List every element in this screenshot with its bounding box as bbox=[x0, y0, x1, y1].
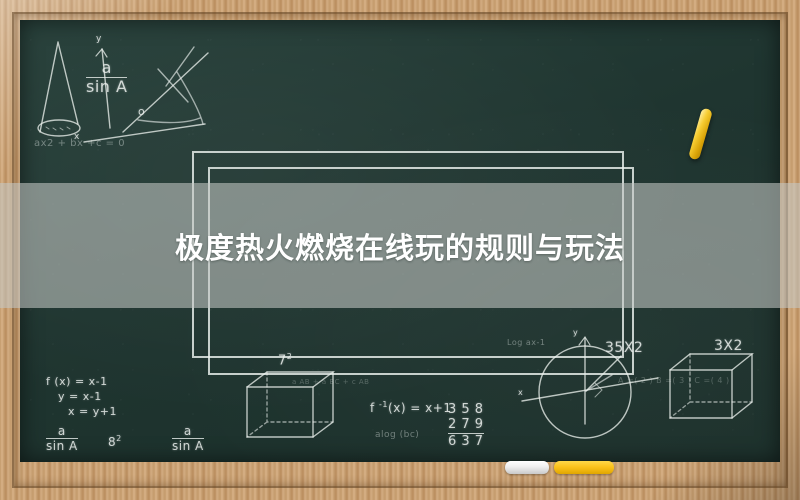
chalk-fraction-a-over-sina-bottom-center: a sin A bbox=[172, 425, 204, 452]
chalk-power-eight: 82 bbox=[108, 434, 122, 449]
chalk-axis-label-y-top: y bbox=[96, 34, 102, 44]
chalk-fraction-numerator: a bbox=[86, 60, 127, 77]
chalk-inverse-fn-rest: (x) = x+1 bbox=[388, 401, 451, 415]
chalk-angle-label-top: o bbox=[138, 105, 145, 118]
chalk-digit-row-2: 2 7 9 bbox=[448, 417, 484, 433]
chalk-inverse-function: f -1(x) = x+1 bbox=[370, 400, 451, 415]
chalk-axis-label-x-top: x bbox=[74, 132, 80, 142]
chalk-log-expression: alog (bc) bbox=[375, 430, 419, 440]
chalk-fraction-denominator: sin A bbox=[172, 438, 204, 453]
chalk-fraction-denominator: sin A bbox=[86, 77, 127, 96]
chalk-inverse-fn-symbol: f bbox=[370, 401, 379, 415]
chalk-digit-grid: 3 5 8 2 7 9 6 3 7 bbox=[448, 402, 484, 449]
chalk-matrix-label-b: 3X2 bbox=[714, 338, 743, 354]
chalk-power-exponent: 2 bbox=[116, 434, 122, 443]
chalk-fraction-a-over-sina-bottom-left: a sin A bbox=[46, 425, 78, 452]
yellow-chalk-stick-on-board bbox=[688, 107, 713, 160]
chalk-fraction-denominator: sin A bbox=[46, 438, 78, 453]
chalk-digit-row-1: 3 5 8 bbox=[448, 402, 484, 417]
chalk-fraction-numerator: a bbox=[172, 425, 204, 438]
chalk-fraction-a-over-sina-top: a sin A bbox=[86, 60, 127, 96]
yellow-chalk-stick-tray bbox=[554, 461, 614, 474]
chalk-circle-axis-x: x bbox=[518, 388, 523, 397]
chalk-digit-row-3: 6 3 7 bbox=[448, 434, 484, 449]
chalk-faint-expression: a AB + a BC + c AB bbox=[292, 378, 369, 386]
chalk-function-line-1: f (x) = x-1 bbox=[46, 375, 117, 390]
page-title: 极度热火燃烧在线玩的规则与玩法 bbox=[175, 225, 625, 267]
chalk-tray bbox=[20, 460, 780, 472]
chalk-function-block: f (x) = x-1 y = x-1 x = y+1 bbox=[46, 375, 117, 420]
white-chalk-stick bbox=[505, 461, 549, 474]
chalk-function-line-2: y = x-1 bbox=[58, 390, 117, 405]
title-banner: 极度热火燃烧在线玩的规则与玩法 bbox=[0, 183, 800, 308]
chalk-power-base: 8 bbox=[108, 435, 116, 449]
chalk-matrix-expression: A =( 2 ) B =( 3 ) C =( 4 ) bbox=[618, 376, 730, 385]
chalk-function-line-3: x = y+1 bbox=[68, 405, 117, 420]
chalk-inverse-fn-exponent: -1 bbox=[379, 400, 388, 409]
chalk-fraction-numerator: a bbox=[46, 425, 78, 438]
chalkboard-banner-image: a sin A ax2 + bx +c = 0 y x o f (x) = x-… bbox=[0, 0, 800, 500]
